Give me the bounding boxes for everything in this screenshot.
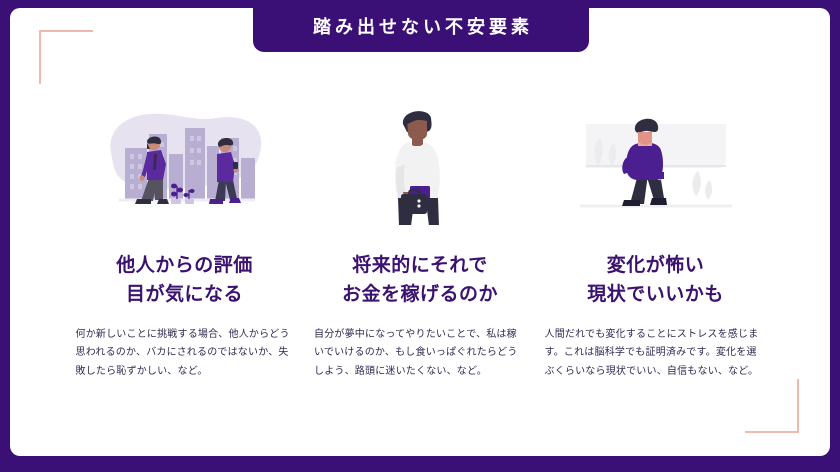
column-3-heading: 変化が怖い 現状でいいかも xyxy=(587,251,724,310)
columns-container: 他人からの評価 目が気になる 何か新しいことに挑戦する場合、他人からどう思われる… xyxy=(10,100,830,381)
column-1: 他人からの評価 目が気になる 何か新しいことに挑戦する場合、他人からどう思われる… xyxy=(72,100,297,381)
column-3: 変化が怖い 現状でいいかも 人間だれでも変化することにストレスを感じます。これは… xyxy=(543,100,768,381)
column-2: 将来的にそれで お金を稼げるのか 自分が夢中になってやりたいことで、私は稼いでい… xyxy=(308,100,533,381)
corner-bracket-bottom-right-icon xyxy=(745,379,799,433)
column-1-body: 何か新しいことに挑戦する場合、他人からどう思われるのか、バカにされるのではないか… xyxy=(76,326,294,382)
column-3-body: 人間だれでも変化することにストレスを感じます。これは脳科学でも証明済みです。変化… xyxy=(545,326,767,382)
column-1-heading: 他人からの評価 目が気になる xyxy=(116,251,253,310)
two-people-walking-city-illustration xyxy=(97,100,272,225)
column-2-heading: 将来的にそれで お金を稼げるのか xyxy=(342,251,498,310)
slide-card: 他人からの評価 目が気になる 何か新しいことに挑戦する場合、他人からどう思われる… xyxy=(10,8,830,456)
slide-root: 他人からの評価 目が気になる 何か新しいことに挑戦する場合、他人からどう思われる… xyxy=(0,0,840,472)
page-title: 踏み出せない不安要素 xyxy=(309,13,533,39)
man-sitting-on-ledge-illustration xyxy=(568,100,743,225)
man-holding-briefcase-illustration xyxy=(333,100,508,225)
title-banner: 踏み出せない不安要素 xyxy=(253,0,589,52)
corner-bracket-top-left-icon xyxy=(39,30,93,84)
column-2-body: 自分が夢中になってやりたいことで、私は稼いでいけるのか、もし食いっぱぐれたらどう… xyxy=(314,326,526,382)
